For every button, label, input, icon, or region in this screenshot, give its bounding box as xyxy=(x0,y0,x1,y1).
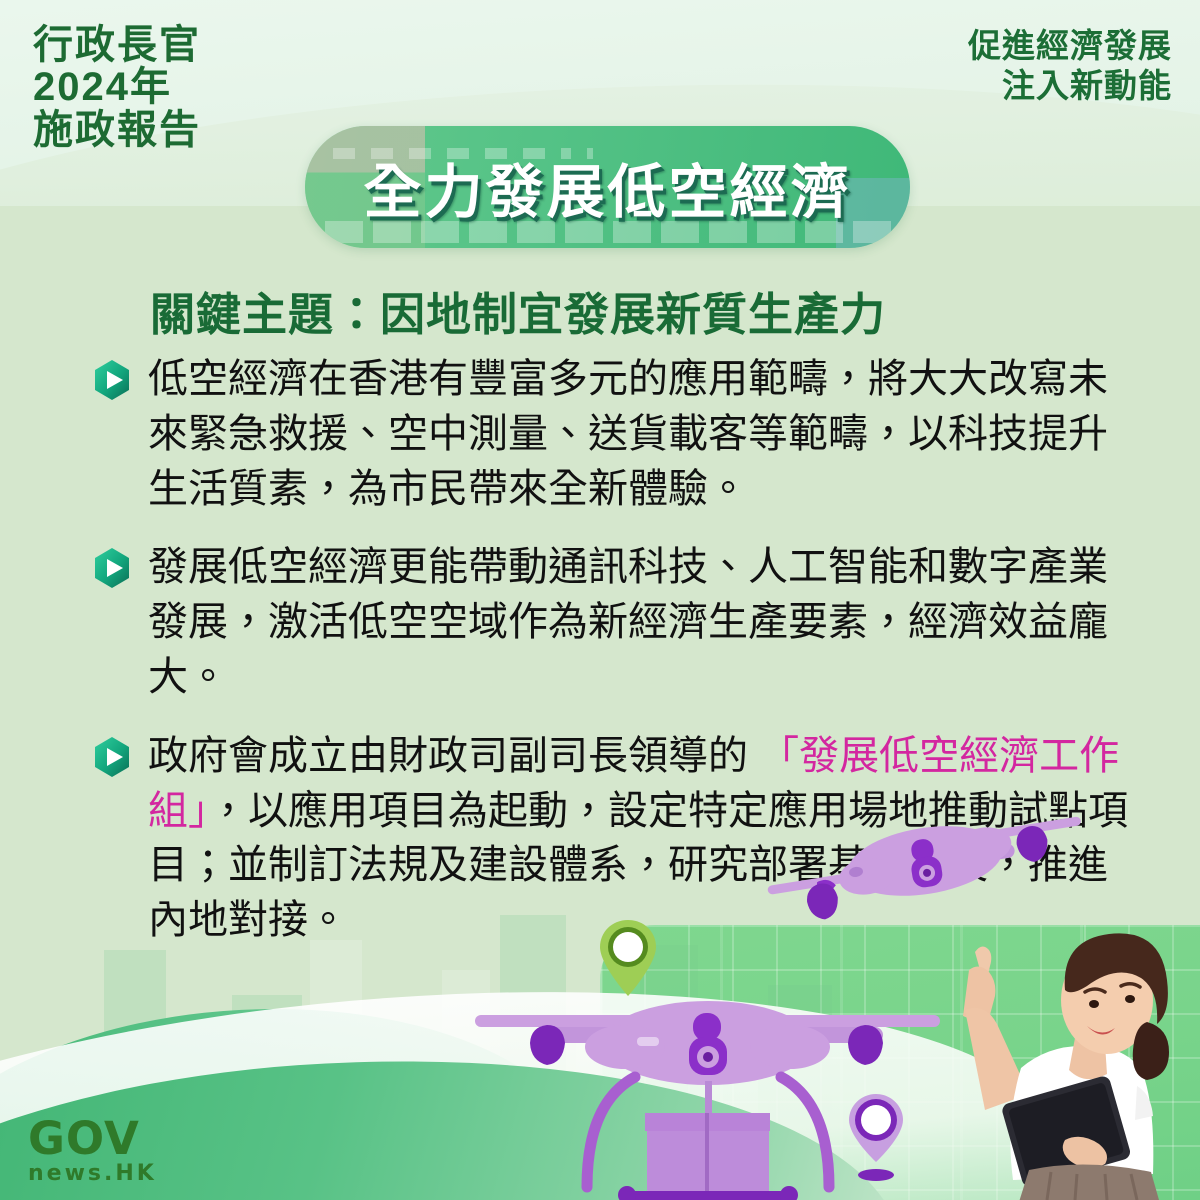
play-hexagon-icon xyxy=(90,735,134,779)
gov-news-hk-logo[interactable]: GOV news.HK xyxy=(28,1118,157,1186)
title-banner: 全力發展低空經濟 xyxy=(305,126,910,248)
page-title: 全力發展低空經濟 xyxy=(305,126,910,248)
play-hexagon-icon xyxy=(90,358,134,402)
play-hexagon-icon xyxy=(90,546,134,590)
header-tagline: 促進經濟發展 注入新動能 xyxy=(968,26,1172,107)
logo-primary-text: GOV xyxy=(28,1118,157,1161)
infographic-poster: 行政長官 2024年 施政報告 促進經濟發展 注入新動能 全力發展低空經濟 關鍵… xyxy=(0,0,1200,1200)
map-pin-green-icon xyxy=(598,918,658,998)
list-item: 發展低空經濟更能帶動通訊科技、人工智能和數字產業發展，激活低空空域作為新經濟生產… xyxy=(90,540,1145,704)
bullet-text-before: 政府會成立由財政司副司長領導的 xyxy=(148,734,759,778)
map-pin-purple-icon xyxy=(845,1092,907,1182)
list-item: 低空經濟在香港有豐富多元的應用範疇，將大大改寫未來緊急救援、空中測量、送貨載客等… xyxy=(90,352,1145,516)
logo-secondary-text: news.HK xyxy=(28,1161,157,1186)
delivery-drone-small-illustration xyxy=(745,795,1105,925)
woman-with-tablet-illustration xyxy=(925,918,1200,1200)
bullet-text: 低空經濟在香港有豐富多元的應用範疇，將大大改寫未來緊急救援、空中測量、送貨載客等… xyxy=(148,352,1145,516)
report-kicker: 行政長官 2024年 施政報告 xyxy=(33,24,201,151)
bullet-text: 發展低空經濟更能帶動通訊科技、人工智能和數字產業發展，激活低空空域作為新經濟生產… xyxy=(148,540,1145,704)
key-theme-subtitle: 關鍵主題：因地制宜發展新質生產力 xyxy=(150,278,886,343)
